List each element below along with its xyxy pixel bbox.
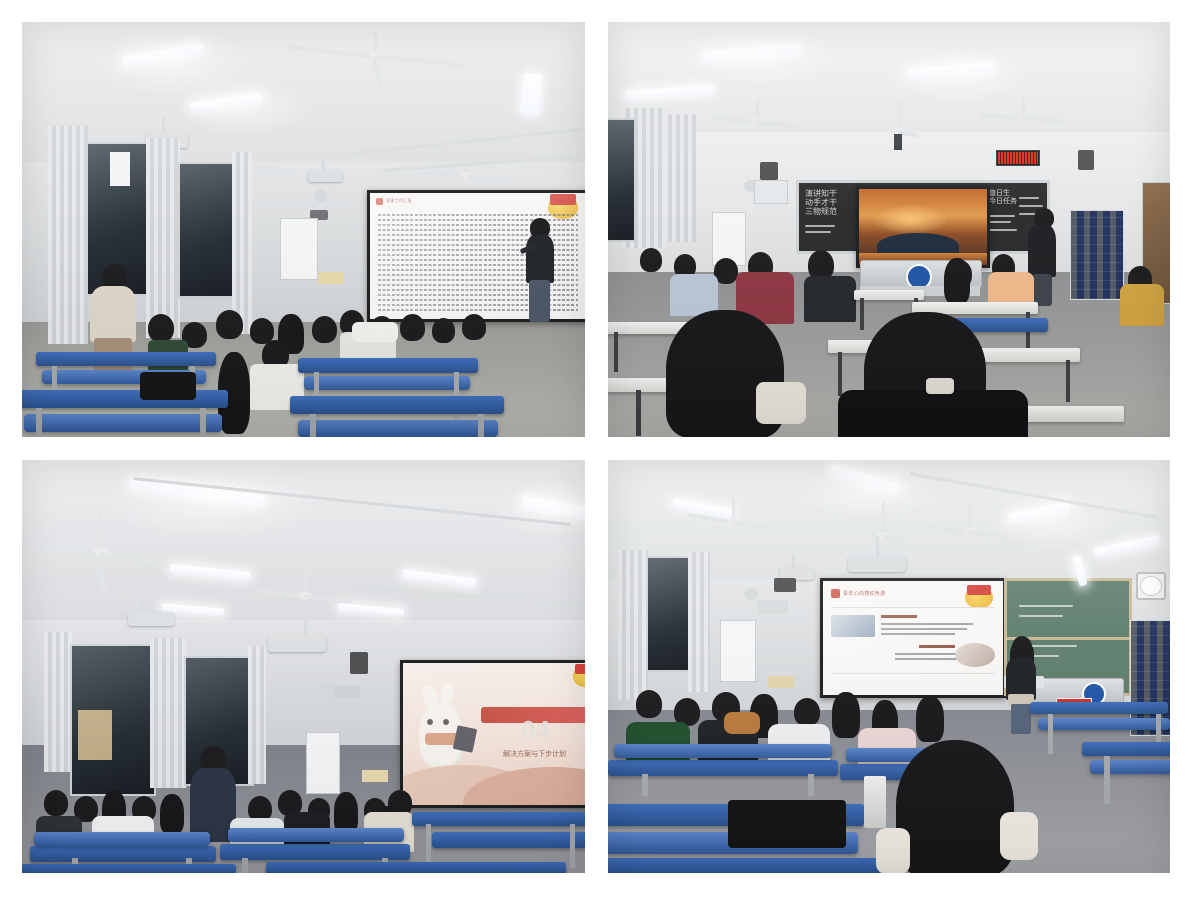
desk-seat (1090, 760, 1170, 774)
projector (128, 612, 174, 626)
student-head (944, 258, 970, 304)
desk-leg (642, 774, 648, 796)
ceiling-fan-rod (98, 512, 101, 552)
window-poster (110, 152, 130, 186)
window (608, 118, 636, 242)
notice-board (1070, 210, 1124, 300)
curtain (688, 552, 710, 692)
student-head (640, 248, 662, 272)
desk-top (22, 864, 236, 873)
wall-notice (768, 676, 794, 688)
desk-top (22, 390, 228, 408)
ceiling-fan-rod (304, 570, 307, 594)
window-poster (78, 710, 112, 760)
classroom-scene-bottom-left: 04 解决方案与下步计划 (22, 460, 585, 873)
curtain (146, 138, 180, 338)
student-head (44, 790, 68, 816)
photo-top-right[interactable]: 演讲知干 动手才干 三物规范 值日生 今日任务 (608, 22, 1170, 437)
student-head (216, 310, 243, 339)
wall-notice (318, 272, 344, 284)
desk-top (290, 396, 504, 414)
desk-top (36, 352, 216, 366)
backpack (728, 800, 846, 848)
student-jacket (90, 286, 136, 342)
speaker (350, 652, 368, 674)
whiteboard (306, 732, 340, 794)
student-head (160, 794, 184, 834)
whiteboard (720, 620, 756, 682)
chalk-mark (1019, 605, 1073, 607)
chalk-mark (805, 225, 835, 227)
desk-seat (304, 376, 470, 390)
desk-leg (1066, 360, 1070, 402)
led-banner (996, 150, 1040, 166)
ceiling-fan-rod (732, 498, 735, 520)
desk-top (1030, 702, 1168, 714)
desk-seat (34, 832, 210, 846)
foreground-student-sleeve (876, 828, 910, 873)
collar (926, 378, 954, 394)
curtain (232, 152, 252, 334)
desk-leg (636, 390, 641, 436)
curtain (248, 646, 266, 784)
desk-leg (310, 414, 316, 437)
desk-top (432, 832, 585, 848)
ceiling-fan-rod (898, 102, 901, 130)
presenter-legs (529, 280, 550, 322)
smart-display-frame (856, 186, 990, 268)
speaker (1078, 150, 1094, 170)
wall-clock (1136, 572, 1166, 600)
presenter-body (526, 235, 554, 283)
wall-sensor (334, 686, 360, 698)
desk-leg (1104, 756, 1110, 804)
surveillance-camera (318, 682, 332, 694)
screen-glare (403, 663, 585, 805)
photo-bottom-right[interactable]: 青年心向党红色游 (608, 460, 1170, 873)
curtain (150, 638, 186, 788)
video-display[interactable] (859, 189, 987, 265)
desk-top (412, 812, 585, 826)
projector (308, 170, 342, 182)
curtain (44, 632, 72, 772)
student-body (1120, 284, 1164, 326)
projection-screen[interactable]: 青年心向党红色游 (823, 581, 1003, 695)
wall-notice (362, 770, 388, 782)
video-glow (872, 204, 949, 234)
photo-top-left[interactable]: 党建工作汇报 (22, 22, 585, 437)
desk-leg (478, 414, 484, 437)
ceiling-fan-rod (374, 32, 377, 54)
chalk-mark (989, 229, 1017, 231)
chalk-mark (805, 231, 831, 233)
student-head (916, 696, 944, 742)
ceiling (22, 460, 585, 630)
projector (268, 636, 326, 652)
photo-bottom-left[interactable]: 04 解决方案与下步计划 (22, 460, 585, 873)
foreground-student-sleeve (1000, 812, 1038, 860)
classroom-scene-top-right: 演讲知干 动手才干 三物规范 值日生 今日任务 (608, 22, 1170, 437)
wall-panel (754, 180, 788, 204)
desk-leg (570, 824, 575, 868)
projector-stem (876, 536, 879, 558)
ceiling-fan-rod (968, 506, 971, 530)
wall-sensor (758, 600, 788, 614)
desk-top (1082, 742, 1170, 756)
desk-seat (1038, 718, 1170, 730)
student-head (832, 692, 860, 738)
student-head (432, 318, 455, 343)
window (646, 556, 694, 672)
student-body (804, 276, 856, 322)
chalk-mark (989, 221, 1011, 223)
projection-screen-frame: 04 解决方案与下步计划 (400, 660, 585, 808)
whiteboard (280, 218, 318, 280)
chalk-mark (989, 215, 1015, 217)
curtain (664, 114, 696, 242)
student-body (724, 712, 760, 734)
curtain (48, 126, 88, 344)
backpack (140, 372, 196, 400)
hanging-fixture (894, 134, 902, 150)
desk-leg (200, 408, 206, 437)
chalk-writing-left: 演讲知干 动手才干 三物规范 (805, 189, 837, 217)
clock-face (1140, 576, 1162, 596)
desk-leg (860, 298, 864, 330)
speaker (760, 162, 778, 180)
student-head (794, 698, 820, 726)
desk-top (298, 358, 478, 373)
projection-screen-frame: 青年心向党红色游 (820, 578, 1006, 698)
student-bag (352, 322, 398, 342)
desk-seat (614, 744, 832, 758)
classroom-scene-bottom-right: 青年心向党红色游 (608, 460, 1170, 873)
desk-leg (808, 774, 814, 796)
presenter-legs (1011, 704, 1031, 734)
student-head (400, 314, 425, 341)
desk-leg (1048, 714, 1053, 754)
window (178, 162, 238, 298)
student-body (1028, 225, 1056, 277)
desk-leg (838, 352, 842, 396)
student-head (462, 314, 486, 340)
desk-top (608, 858, 898, 873)
curtain (618, 550, 648, 700)
chalk-writing-right: 值日生 今日任务 (989, 189, 1017, 205)
desk-leg (614, 332, 618, 372)
ceiling-fan-rod (882, 502, 885, 534)
projector (848, 556, 906, 572)
speaker (774, 578, 796, 592)
projection-screen[interactable]: 04 解决方案与下步计划 (403, 663, 585, 805)
surveillance-camera (314, 190, 328, 202)
foreground-student-head (896, 740, 1014, 873)
desk-leg (242, 858, 248, 873)
photo-collage: 党建工作汇报 (0, 0, 1194, 897)
student-head (312, 316, 337, 343)
surveillance-camera (744, 588, 758, 600)
foreground-student-sleeve (756, 382, 806, 424)
presenter (520, 218, 558, 328)
classroom-scene-top-left: 党建工作汇报 (22, 22, 585, 437)
desk-seat (298, 420, 498, 437)
desk-leg (36, 408, 42, 437)
chalk-mark (1019, 615, 1063, 617)
ceiling-fan-rod (756, 100, 759, 120)
desk-seat (228, 828, 404, 842)
water-bottle (864, 776, 886, 828)
chalk-mark (1019, 197, 1039, 199)
foreground-student-body (838, 390, 1028, 437)
presenter (1004, 636, 1038, 734)
desk-seat (24, 414, 222, 432)
student-head (636, 690, 662, 718)
chalk-mark (1019, 205, 1043, 207)
led-banner-text (998, 152, 1038, 164)
student-body (670, 274, 718, 316)
screen-glare (823, 581, 1003, 695)
desk-top (266, 862, 566, 873)
student-head (148, 314, 174, 342)
